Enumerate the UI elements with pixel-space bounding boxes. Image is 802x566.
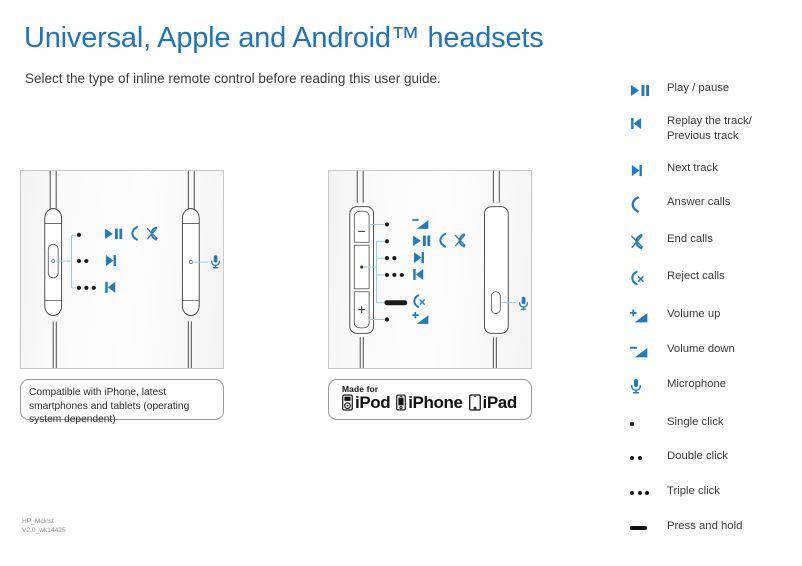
volume-up-icon: [628, 308, 662, 324]
triple-click-icon: [628, 485, 662, 501]
ipad-icon: [469, 394, 481, 411]
legend-item-end-calls: End calls: [628, 233, 796, 249]
microphone-icon: [628, 378, 662, 394]
press-hold-icon: [384, 300, 407, 305]
click-dots-apple: [384, 222, 407, 321]
ipad-label: iPad: [483, 394, 517, 411]
click-dots-universal: [77, 233, 96, 290]
ipod-label: iPod: [355, 394, 390, 411]
legend-item-next-track: Next track: [628, 162, 796, 178]
legend-label-answer-calls: Answer calls: [662, 195, 730, 210]
legend-label-press-and-hold: Press and hold: [662, 519, 742, 534]
legend-item-microphone: Microphone: [628, 378, 796, 394]
end-call-icon: [628, 233, 662, 249]
play-pause-icon: [628, 82, 662, 98]
single-click-icon: [628, 416, 662, 432]
next-track-icon: [414, 252, 424, 263]
legend-label-double-click: Double click: [662, 449, 728, 464]
legend-item-volume-down: Volume down: [628, 343, 796, 359]
press-hold-icon: [628, 520, 662, 536]
play-pause-icon: [413, 236, 430, 246]
legend-label-play-pause: Play / pause: [662, 81, 729, 96]
inline-microphone-apple: [484, 207, 508, 334]
legend-label-triple-click: Triple click: [662, 484, 720, 499]
inline-remote-apple: [350, 207, 374, 334]
document-code-footer: HP_Mcinst V2.0_wk14425: [22, 518, 66, 535]
footer-line-2: V2.0_wk14425: [22, 527, 66, 536]
legend-item-triple-click: Triple click: [628, 485, 796, 501]
legend-item-answer-calls: Answer calls: [628, 196, 796, 212]
answer-call-icon: [628, 196, 662, 212]
legend-label-microphone: Microphone: [662, 377, 726, 392]
legend-item-single-click: Single click: [628, 416, 796, 432]
volume-down-button: [354, 211, 369, 242]
reject-call-icon: [628, 270, 662, 286]
legend-label-end-calls: End calls: [662, 232, 713, 247]
legend-item-double-click: Double click: [628, 450, 796, 466]
legend-item-press-and-hold: Press and hold: [628, 520, 796, 536]
legend-item-volume-up: Volume up: [628, 308, 796, 324]
legend-item-reject-calls: Reject calls: [628, 270, 796, 286]
legend-item-play-pause: Play / pause: [628, 82, 796, 98]
answer-call-icon: [132, 227, 137, 240]
iphone-label: iPhone: [408, 394, 462, 411]
legend-label-next-track: Next track: [662, 161, 718, 176]
ipod-icon: [342, 394, 353, 411]
volume-down-icon: [413, 220, 428, 229]
previous-track-icon: [105, 282, 115, 293]
footer-line-1: HP_Mcinst: [22, 518, 66, 527]
next-track-icon: [628, 162, 662, 178]
legend-label-previous-track: Replay the track/ Previous track: [662, 114, 752, 143]
end-call-icon: [147, 227, 157, 239]
reject-call-icon: [414, 295, 424, 307]
page-title: Universal, Apple and Android™ headsets: [24, 22, 544, 55]
microphone-icon: [520, 297, 528, 310]
play-pause-icon: [105, 229, 122, 239]
legend-item-previous-track: Replay the track/ Previous track: [628, 115, 796, 143]
previous-track-icon: [628, 115, 662, 131]
microphone-icon: [212, 255, 220, 268]
volume-up-icon: [413, 313, 429, 324]
universal-headset-diagram: [20, 170, 224, 369]
apple-headset-diagram: [328, 170, 532, 369]
legend-label-volume-up: Volume up: [662, 307, 720, 322]
legend-label-single-click: Single click: [662, 415, 724, 430]
legend-label-reject-calls: Reject calls: [662, 269, 725, 284]
page-subtitle: Select the type of inline remote control…: [25, 71, 441, 86]
double-click-icon: [628, 450, 662, 466]
answer-call-icon: [440, 234, 445, 247]
legend-label-volume-down: Volume down: [662, 342, 735, 357]
volume-down-icon: [628, 343, 662, 359]
universal-caption-box: Compatible with iPhone, latest smartphon…: [20, 379, 224, 420]
next-track-icon: [106, 255, 116, 266]
universal-caption-text: Compatible with iPhone, latest smartphon…: [29, 386, 217, 427]
iphone-icon: [396, 394, 406, 411]
end-call-icon: [455, 234, 465, 246]
previous-track-icon: [413, 269, 423, 280]
headset-guide-page: Universal, Apple and Android™ headsets S…: [0, 0, 802, 566]
inline-remote-universal: [45, 209, 62, 316]
apple-madefor-badge: Made for iPod iPhone iPad: [328, 379, 532, 420]
